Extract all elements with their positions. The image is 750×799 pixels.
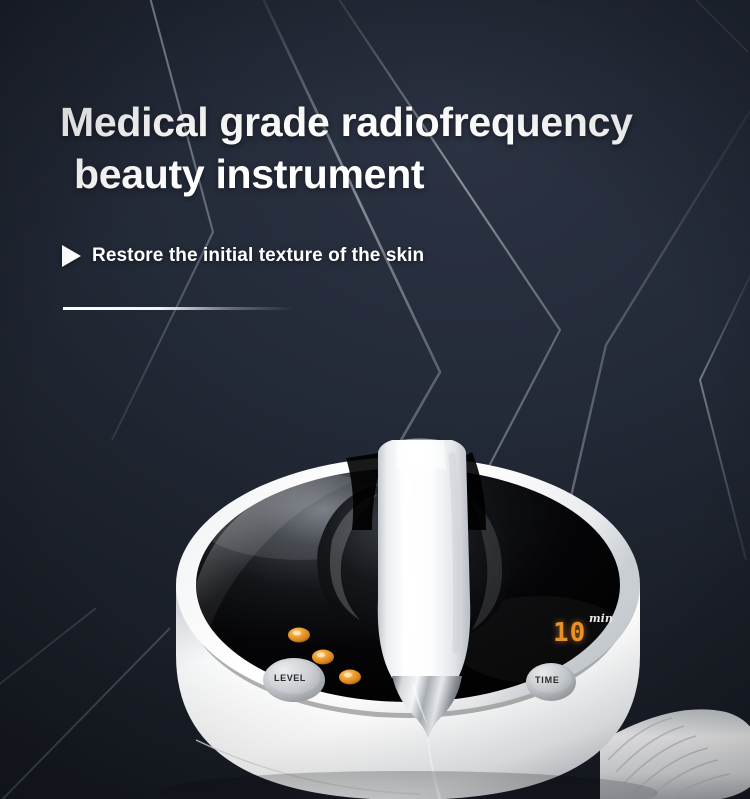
hero-subtitle: Restore the initial texture of the skin <box>92 245 424 267</box>
page-title-line-2: beauty instrument <box>74 148 750 200</box>
play-triangle-icon <box>62 245 81 267</box>
hero-title-block: Medical grade radiofrequency beauty inst… <box>0 96 750 200</box>
hero-divider <box>63 307 293 310</box>
page-title-line-1: Medical grade radiofrequency <box>60 96 750 148</box>
hero-subtitle-row: Restore the initial texture of the skin <box>62 245 424 267</box>
hero-banner: Medical grade radiofrequency beauty inst… <box>0 0 750 799</box>
